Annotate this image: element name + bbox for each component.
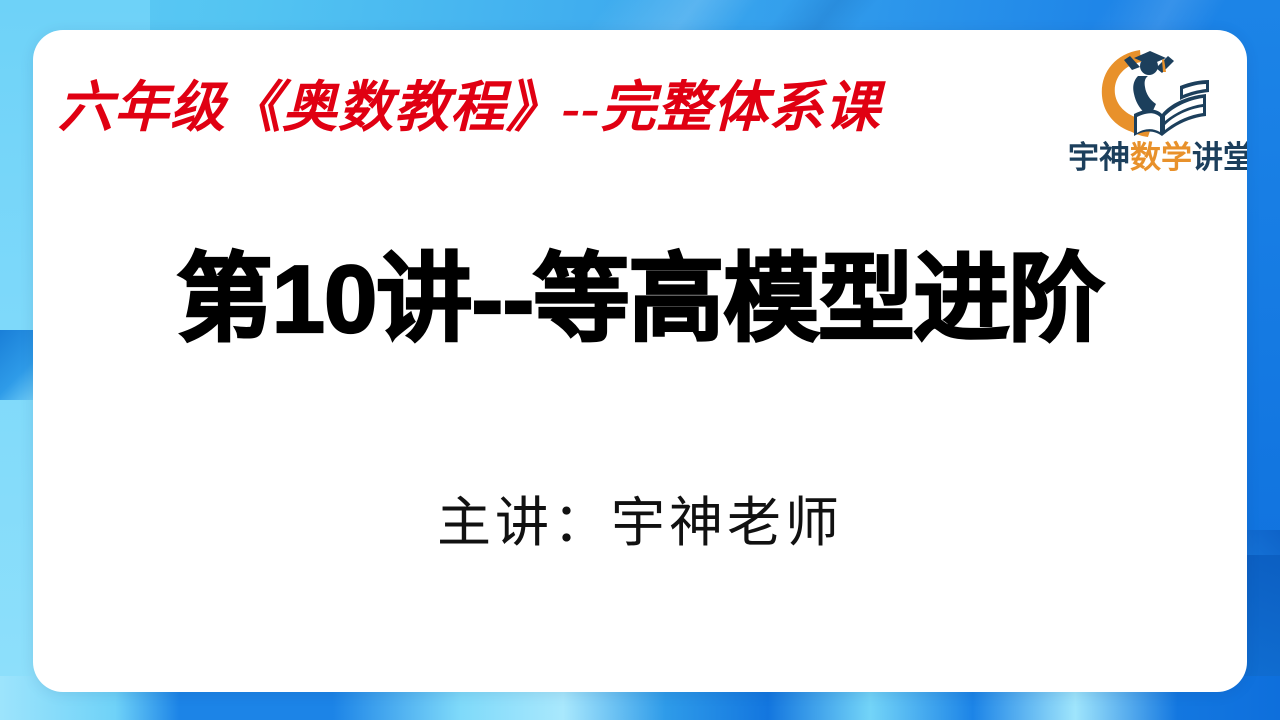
- lesson-title: 第10讲--等高模型进阶: [33, 245, 1247, 355]
- content-card: 六年级《奥数教程》--完整体系课: [33, 30, 1247, 692]
- course-headline: 六年级《奥数教程》--完整体系课: [58, 78, 1058, 139]
- header-row: 六年级《奥数教程》--完整体系课: [33, 30, 1247, 190]
- graduate-with-open-book-icon: [1094, 40, 1218, 144]
- brand-logo: 宇神数学讲堂: [1068, 38, 1243, 190]
- slide-root: 六年级《奥数教程》--完整体系课: [0, 0, 1280, 720]
- brand-logo-text: 宇神数学讲堂: [1068, 142, 1243, 173]
- brand-logo-text-part2: 数学: [1130, 140, 1192, 175]
- presenter-line: 主讲：宇神老师: [33, 478, 1247, 557]
- brand-logo-text-part1: 宇神: [1068, 140, 1130, 175]
- brand-logo-text-part3: 讲堂: [1192, 140, 1247, 175]
